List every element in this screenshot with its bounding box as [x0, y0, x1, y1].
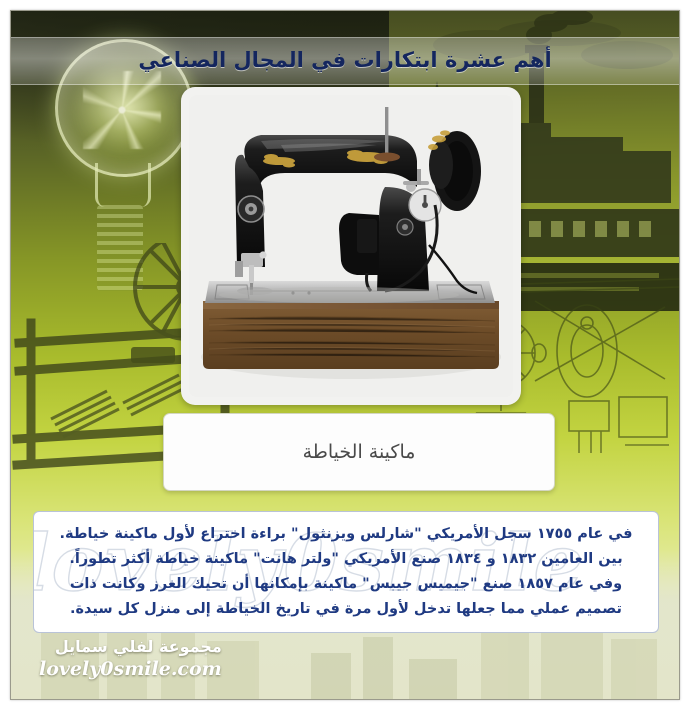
sewing-machine-photo-card	[181, 87, 521, 405]
brand-website-url: lovely0smile.com	[39, 657, 222, 681]
brand-footer: مجموعة لفلي سمايل lovely0smile.com	[39, 637, 222, 681]
caption-text: ماكينة الخياطة	[303, 441, 416, 463]
description-text: في عام ١٧٥٥ سجل الأمريكي "شارلس ويزنثول"…	[34, 512, 658, 622]
caption-card: ماكينة الخياطة	[163, 413, 555, 491]
description-paragraph-2: وفي عام ١٨٥٧ صنع "جيميس جيبس" ماكينة بإم…	[48, 572, 644, 622]
vintage-sewing-machine-photo	[189, 95, 513, 397]
infographic-page: أهم عشرة ابتكارات في المجال الصناعي	[0, 0, 692, 712]
brand-arabic-name: مجموعة لفلي سمايل	[39, 637, 222, 657]
page-title: أهم عشرة ابتكارات في المجال الصناعي	[11, 41, 679, 79]
description-paragraph-1: في عام ١٧٥٥ سجل الأمريكي "شارلس ويزنثول"…	[48, 522, 644, 572]
image-frame: أهم عشرة ابتكارات في المجال الصناعي	[10, 10, 680, 700]
description-card: lovely0smile في عام ١٧٥٥ سجل الأمريكي "ش…	[33, 511, 659, 633]
